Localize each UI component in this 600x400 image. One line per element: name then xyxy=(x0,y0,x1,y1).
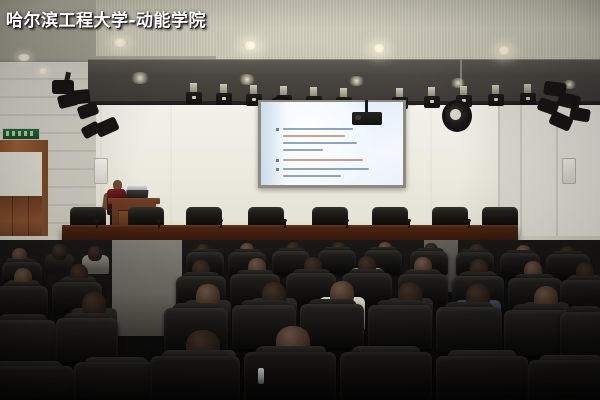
slide-text-line-2 xyxy=(283,142,357,144)
row-near-seat-1 xyxy=(56,318,118,362)
row-near-seat-8 xyxy=(560,312,600,358)
dais-microphone-5 xyxy=(408,221,410,228)
downlight-1 xyxy=(243,41,258,50)
dais-chair-6 xyxy=(432,207,468,227)
page-title: 哈尔滨工程大学-动能学院 xyxy=(6,6,206,31)
wall-seam xyxy=(170,104,172,236)
water-bottle xyxy=(258,368,264,384)
light-lens-icon-2 xyxy=(252,98,256,101)
row-foreground-seat-6 xyxy=(528,360,600,400)
slide-text-line-5 xyxy=(283,168,369,170)
slide-text-line-3 xyxy=(283,149,323,151)
slide-bullet-0 xyxy=(276,128,279,131)
dais-chair-4 xyxy=(312,207,348,227)
dais-microphone-0 xyxy=(96,221,98,228)
dais-chair-3 xyxy=(248,207,284,227)
wall-speaker-right xyxy=(562,158,576,184)
round-speaker-right xyxy=(442,100,472,132)
light-yoke-6 xyxy=(396,88,403,97)
slide-text-line-1 xyxy=(283,135,345,137)
row-far-head-1 xyxy=(52,244,67,260)
dais-chair-0 xyxy=(70,207,106,227)
dais-microphone-2 xyxy=(220,221,222,228)
lecture-hall-photo: 哈尔滨工程大学-动能学院 xyxy=(0,0,600,400)
projector-lens-icon xyxy=(355,115,361,120)
row-foreground-seat-5 xyxy=(436,356,528,400)
dais-microphone-6 xyxy=(468,221,470,228)
light-lens-icon-10 xyxy=(526,97,530,100)
light-yoke-10 xyxy=(524,84,531,93)
light-yoke-0 xyxy=(190,83,197,92)
slide-bullet-2 xyxy=(276,168,279,171)
light-yoke-1 xyxy=(220,84,227,93)
dais-chair-7 xyxy=(482,207,518,227)
dais-microphone-3 xyxy=(284,221,286,228)
beam-reflection-0 xyxy=(130,72,150,84)
light-lens-icon-1 xyxy=(222,97,226,100)
wall-speaker-left xyxy=(94,158,108,184)
beam-reflection-2 xyxy=(348,76,365,86)
downlight-5 xyxy=(38,68,48,74)
row-foreground-seat-0 xyxy=(0,366,74,400)
wall-seam xyxy=(520,100,522,246)
light-yoke-2 xyxy=(250,85,257,94)
row-near-seat-0 xyxy=(0,320,56,366)
downlight-4 xyxy=(18,54,30,61)
dais-microphone-4 xyxy=(346,221,348,228)
light-yoke-3 xyxy=(280,86,287,95)
row-foreground-seat-2 xyxy=(150,356,240,400)
light-yoke-8 xyxy=(460,86,467,95)
row-foreground-seat-4 xyxy=(340,352,432,400)
downlight-0 xyxy=(112,38,128,47)
downlight-3 xyxy=(497,46,511,55)
downlight-2 xyxy=(372,44,386,53)
slide-text-line-4 xyxy=(283,159,363,161)
light-lens-icon-9 xyxy=(494,98,498,101)
row-far-head-2 xyxy=(88,246,102,261)
slide-text-line-6 xyxy=(283,175,341,177)
light-yoke-7 xyxy=(428,87,435,96)
beam-reflection-1 xyxy=(238,74,256,85)
row-near-seat-6 xyxy=(436,307,502,352)
light-yoke-5 xyxy=(340,88,347,97)
exit-sign xyxy=(2,128,40,140)
exit-sign-glyph-icon xyxy=(6,131,36,136)
dais-microphone-1 xyxy=(158,221,160,228)
dais-chair-5 xyxy=(372,207,408,227)
dais-chair-2 xyxy=(186,207,222,227)
row-foreground-seat-1 xyxy=(74,362,160,400)
slide-text-line-0 xyxy=(283,128,353,130)
row-near-seat-5 xyxy=(368,305,432,349)
light-lens-icon-0 xyxy=(192,96,196,99)
light-yoke-4 xyxy=(310,87,317,96)
slide-bullet-1 xyxy=(276,159,279,162)
light-lens-icon-7 xyxy=(430,100,434,103)
light-yoke-9 xyxy=(492,85,499,94)
